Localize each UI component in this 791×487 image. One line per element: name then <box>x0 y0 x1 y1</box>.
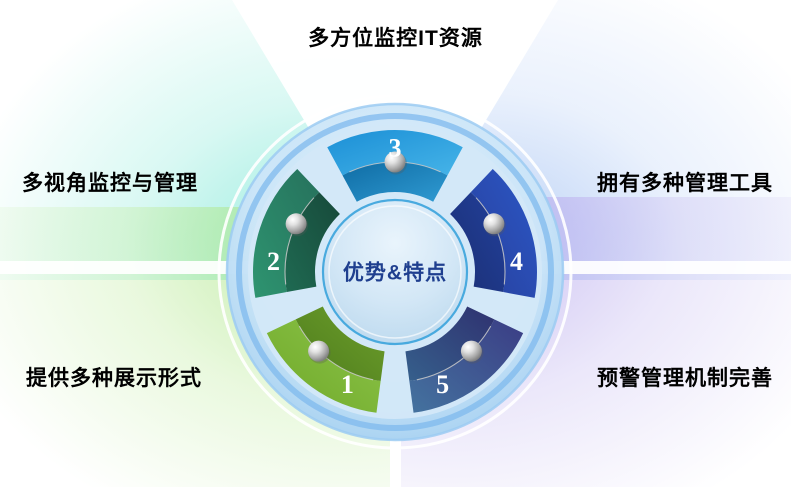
segment-number-1: 1 <box>341 370 354 399</box>
segment-marker-sphere-5[interactable] <box>461 341 482 362</box>
segment-number-2: 2 <box>267 247 280 276</box>
segment-number-4: 4 <box>510 247 523 276</box>
label-left: 多视角监控与管理 <box>22 167 198 197</box>
advantages-wheel: 优势&特点 12345 <box>216 93 574 451</box>
segment-number-5: 5 <box>436 370 449 399</box>
segment-marker-sphere-4[interactable] <box>483 213 504 234</box>
infographic-canvas: 优势&特点 12345 多方位监控IT资源 多视角监控与管理 拥有多种管理工具 … <box>0 0 791 487</box>
segment-marker-sphere-1[interactable] <box>308 341 329 362</box>
segment-marker-sphere-2[interactable] <box>286 213 307 234</box>
label-bottom-right: 预警管理机制完善 <box>597 362 773 392</box>
label-bottom-left: 提供多种展示形式 <box>26 362 202 392</box>
segment-number-3: 3 <box>389 134 402 163</box>
label-top: 多方位监控IT资源 <box>0 22 791 52</box>
center-label: 优势&特点 <box>343 261 447 285</box>
label-right: 拥有多种管理工具 <box>597 167 773 197</box>
